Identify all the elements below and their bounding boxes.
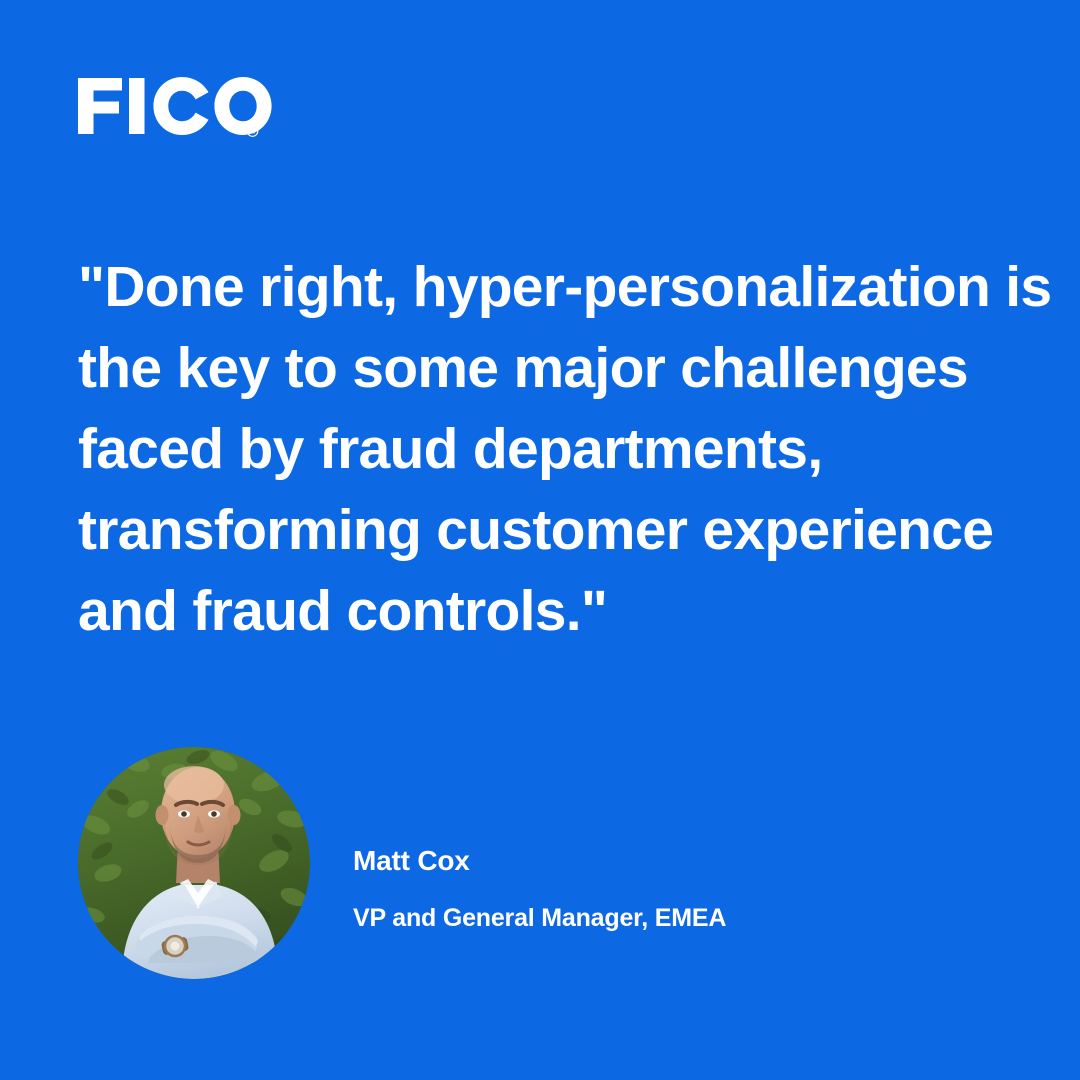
person-name: Matt Cox [353,843,726,879]
quote-line: transforming customer experience [78,490,1018,571]
quote-line: and fraud controls." [78,571,1018,652]
quote-line: "Done right, hyper-personalization is [78,247,1018,328]
person-info: Matt Cox VP and General Manager, EMEA [353,791,726,935]
svg-text:R: R [250,129,255,136]
attribution-block: Matt Cox VP and General Manager, EMEA [78,745,1008,980]
person-title: VP and General Manager, EMEA [353,901,726,935]
quote-card: R "Done right, hyper-personalization is … [0,0,1080,1080]
avatar [78,747,310,979]
quote-line: faced by fraud departments, [78,409,1018,490]
quote-text: "Done right, hyper-personalization is th… [78,247,1018,652]
quote-line: the key to some major challenges [78,328,1018,409]
fico-logo: R [76,70,276,142]
